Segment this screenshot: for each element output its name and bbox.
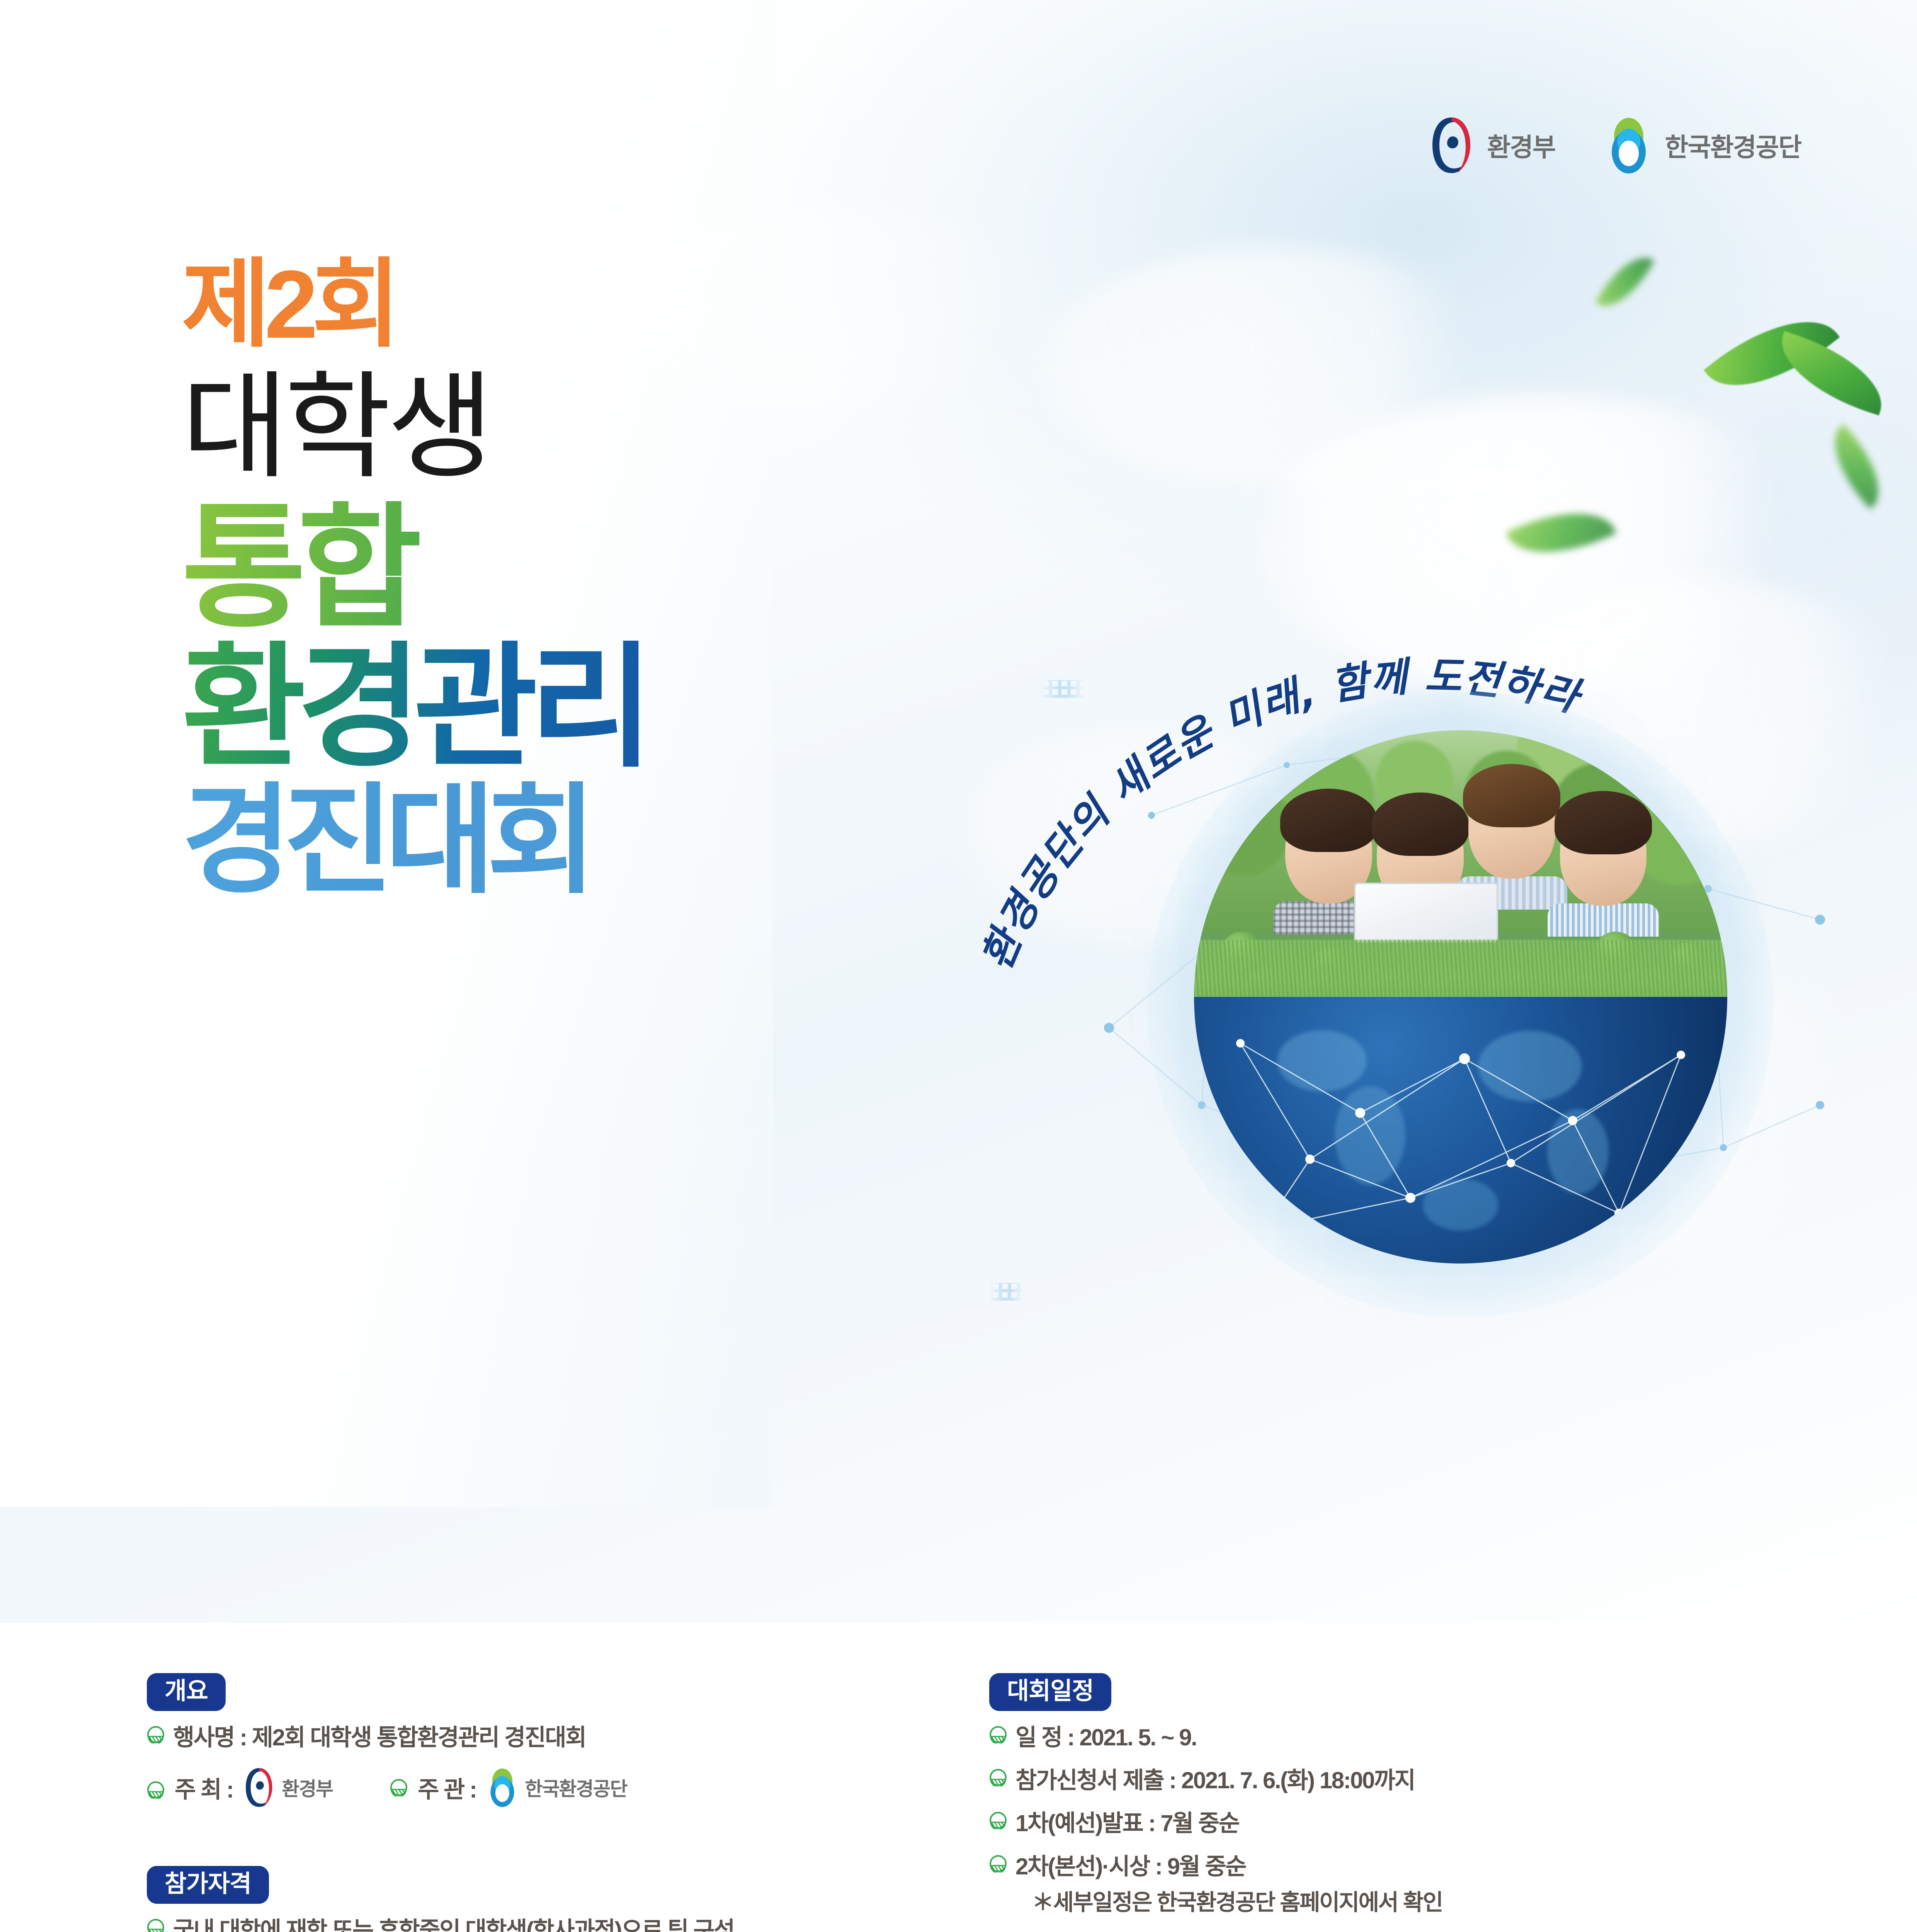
- section-overview: 개요 행사명 : 제2회 대학생 통합환경관리 경진대회 주 최 :: [147, 1673, 943, 1808]
- overview-host-logo: 환경부: [243, 1767, 333, 1808]
- green-circle-bullet-icon: [390, 1779, 408, 1796]
- person-hair: [1372, 793, 1469, 856]
- overview-organizer-label: 주 관 :: [418, 1771, 476, 1804]
- ministry-of-environment-logo: 환경부: [1429, 116, 1555, 175]
- green-circle-bullet-icon: [989, 1855, 1007, 1872]
- grass-band: [1194, 940, 1727, 1002]
- keco-oval-icon: [486, 1767, 519, 1808]
- green-circle-bullet-icon: [989, 1726, 1007, 1743]
- overview-event-name: 행사명 : 제2회 대학생 통합환경관리 경진대회: [173, 1721, 586, 1754]
- person-head: [1560, 803, 1647, 906]
- info-column-left: 개요 행사명 : 제2회 대학생 통합환경관리 경진대회 주 최 :: [147, 1673, 943, 1932]
- green-circle-bullet-icon: [147, 1918, 165, 1932]
- person-hair: [1463, 764, 1560, 827]
- title-line-tonghap: 통합: [182, 501, 645, 635]
- title-student: 대학생: [182, 364, 645, 490]
- schedule-item-3: 2차(본선)·시상 : 9월 중순: [1015, 1850, 1246, 1883]
- overview-host-label: 주 최 :: [175, 1771, 233, 1804]
- title-edition: 제2회: [182, 255, 645, 354]
- schedule-note: ＊세부일정은 한국환경공단 홈페이지에서 확인: [1032, 1887, 1863, 1918]
- globe-circle: [1194, 730, 1727, 1264]
- schedule-item-row: 참가신청서 제출 : 2021. 7. 6.(화) 18:00까지: [989, 1764, 1863, 1797]
- schedule-item-row: 일 정 : 2021. 5. ~ 9.: [989, 1721, 1863, 1754]
- overview-organizer-name: 한국환경공단: [525, 1774, 627, 1801]
- green-circle-bullet-icon: [147, 1781, 165, 1799]
- schedule-item-row: 2차(본선)·시상 : 9월 중순: [989, 1850, 1863, 1883]
- title-line-hwangyeong-gwanri: 환경관리: [182, 641, 645, 775]
- overview-event-name-row: 행사명 : 제2회 대학생 통합환경관리 경진대회: [147, 1721, 943, 1754]
- schedule-item-row: 1차(예선)발표 : 7월 중순: [989, 1807, 1863, 1840]
- globe-lower-sphere: [1194, 997, 1727, 1264]
- person-hair: [1555, 791, 1652, 854]
- schedule-item-0: 일 정 : 2021. 5. ~ 9.: [1015, 1721, 1196, 1754]
- schedule-item-1: 참가신청서 제출 : 2021. 7. 6.(화) 18:00까지: [1015, 1764, 1415, 1797]
- section-badge-overview: 개요: [147, 1673, 226, 1711]
- poster-title-block: 제2회 대학생 통합 환경관리 경진대회: [182, 255, 645, 900]
- eligibility-line-1: 국내 대학에 재학 또는 휴학중인 대학생(학사과정)으로 팀 구성: [173, 1914, 734, 1932]
- green-circle-bullet-icon: [147, 1726, 165, 1743]
- keco-label: 한국환경공단: [1665, 127, 1801, 164]
- header-logo-bar: 환경부 한국환경공단: [1429, 116, 1801, 175]
- schedule-item-2: 1차(예선)발표 : 7월 중순: [1015, 1807, 1239, 1840]
- section-badge-eligibility: 참가자격: [147, 1866, 269, 1904]
- overview-organizer-logo: 한국환경공단: [486, 1767, 627, 1808]
- eligibility-main-row: 국내 대학에 재학 또는 휴학중인 대학생(학사과정)으로 팀 구성: [147, 1914, 943, 1932]
- person-man-right: [1560, 803, 1647, 937]
- globe-network-lines: [1194, 997, 1727, 1264]
- info-column-right: 대회일정 일 정 : 2021. 5. ~ 9. 참가신청서 제출 : 2021…: [989, 1673, 1863, 1932]
- green-circle-bullet-icon: [989, 1769, 1007, 1786]
- globe-upper-scene: [1194, 730, 1727, 1002]
- title-line-gyeongjindaehoe: 경진대회: [182, 781, 645, 900]
- overview-host-name: 환경부: [282, 1774, 333, 1801]
- section-schedule: 대회일정 일 정 : 2021. 5. ~ 9. 참가신청서 제출 : 2021…: [989, 1673, 1863, 1918]
- overview-host-row: 주 최 : 환경부 주 관 :: [147, 1767, 943, 1808]
- keco-logo: 한국환경공단: [1606, 116, 1801, 174]
- section-eligibility: 참가자격 국내 대학에 재학 또는 휴학중인 대학생(학사과정)으로 팀 구성 …: [147, 1866, 943, 1932]
- person-head: [1468, 776, 1555, 879]
- person-hair: [1280, 789, 1378, 852]
- ministry-of-environment-label: 환경부: [1487, 127, 1555, 164]
- section-badge-schedule: 대회일정: [989, 1673, 1111, 1711]
- hero-globe-graphic: 환경공단의 새로운 미래, 함께 도전하라: [958, 603, 1893, 1499]
- korea-government-taegeuk-icon: [243, 1767, 276, 1808]
- tablet-device: [1354, 883, 1498, 942]
- green-circle-bullet-icon: [989, 1811, 1007, 1829]
- keco-oval-icon: [1606, 116, 1652, 174]
- cloud-shape: [1043, 247, 1507, 487]
- cloud-shape: [618, 209, 1043, 410]
- korea-government-taegeuk-icon: [1429, 116, 1474, 175]
